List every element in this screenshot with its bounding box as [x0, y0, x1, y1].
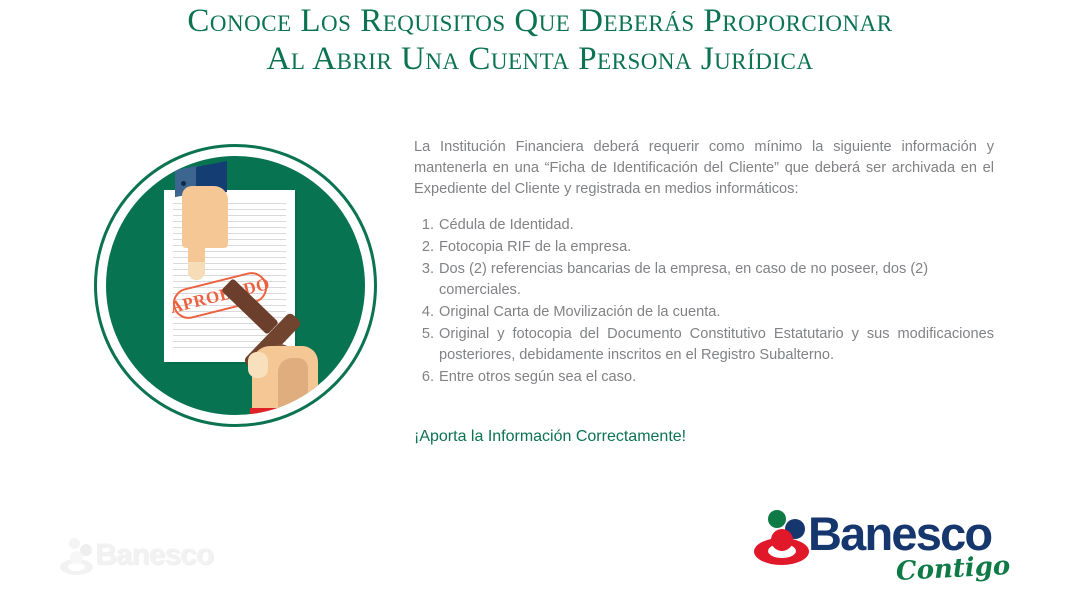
- logo-circle-red: [771, 529, 793, 551]
- intro-paragraph: La Institución Financiera deberá requeri…: [414, 137, 994, 200]
- list-item-text: Cédula de Identidad.: [439, 215, 994, 236]
- list-item-text: Original Carta de Movilización de la cue…: [439, 302, 994, 323]
- page-title-line-1: Conoce Los Requisitos Que Deberás Propor…: [0, 2, 1080, 40]
- list-item-number: 6.: [414, 367, 439, 388]
- requirements-text-column: La Institución Financiera deberá requeri…: [414, 137, 994, 447]
- list-item-number: 5.: [414, 324, 439, 366]
- banesco-tagline: Contigo: [895, 551, 1011, 587]
- banesco-watermark-mark-icon: [59, 538, 95, 576]
- red-cuff-dark: [250, 408, 278, 415]
- list-item-text: Original y fotocopia del Documento Const…: [439, 324, 994, 366]
- red-cuff-light: [277, 408, 306, 415]
- list-item-number: 3.: [414, 259, 439, 301]
- hand-holding-stamp-icon: [224, 302, 354, 415]
- watermark-circle-green: [69, 538, 80, 549]
- page-title-line-2: Al Abrir Una Cuenta Persona Jurídica: [0, 40, 1080, 78]
- page-title: Conoce Los Requisitos Que Deberás Propor…: [0, 2, 1080, 78]
- list-item: 2. Fotocopia RIF de la empresa.: [414, 237, 994, 258]
- list-item-text: Fotocopia RIF de la empresa.: [439, 237, 994, 258]
- logo-circle-green: [768, 510, 786, 528]
- watermark-circle-red: [70, 551, 83, 564]
- banesco-logo: Banesco Contigo: [754, 506, 994, 590]
- banesco-watermark-logo: Banesco: [57, 536, 227, 581]
- bottom-hand-thumb: [248, 352, 268, 378]
- list-item-text: Dos (2) referencias bancarias de la empr…: [439, 259, 994, 301]
- top-hand-fingertip: [188, 262, 205, 280]
- bottom-hand-shade: [278, 358, 308, 415]
- cuff-button-dot: [181, 181, 186, 186]
- banesco-wordmark: Banesco: [808, 509, 991, 559]
- watermark-ring-inner: [68, 563, 85, 571]
- list-item-number: 4.: [414, 302, 439, 323]
- list-item: 4. Original Carta de Movilización de la …: [414, 302, 994, 323]
- approved-document-illustration: APROBADO: [88, 132, 388, 464]
- list-item-text: Entre otros según sea el caso.: [439, 367, 994, 388]
- hand-holding-document-icon: [154, 156, 264, 282]
- list-item: 1. Cédula de Identidad.: [414, 215, 994, 236]
- call-to-action-text: ¡Aporta la Información Correctamente!: [414, 427, 994, 447]
- list-item-number: 2.: [414, 237, 439, 258]
- illustration-green-disc: APROBADO: [106, 156, 365, 415]
- list-item: 5. Original y fotocopia del Documento Co…: [414, 324, 994, 366]
- list-item: 3. Dos (2) referencias bancarias de la e…: [414, 259, 994, 301]
- requirements-list: 1. Cédula de Identidad. 2. Fotocopia RIF…: [414, 215, 994, 388]
- banesco-logo-mark-icon: [754, 510, 812, 568]
- list-item-number: 1.: [414, 215, 439, 236]
- banesco-watermark-wordmark: Banesco: [95, 538, 213, 572]
- list-item: 6. Entre otros según sea el caso.: [414, 367, 994, 388]
